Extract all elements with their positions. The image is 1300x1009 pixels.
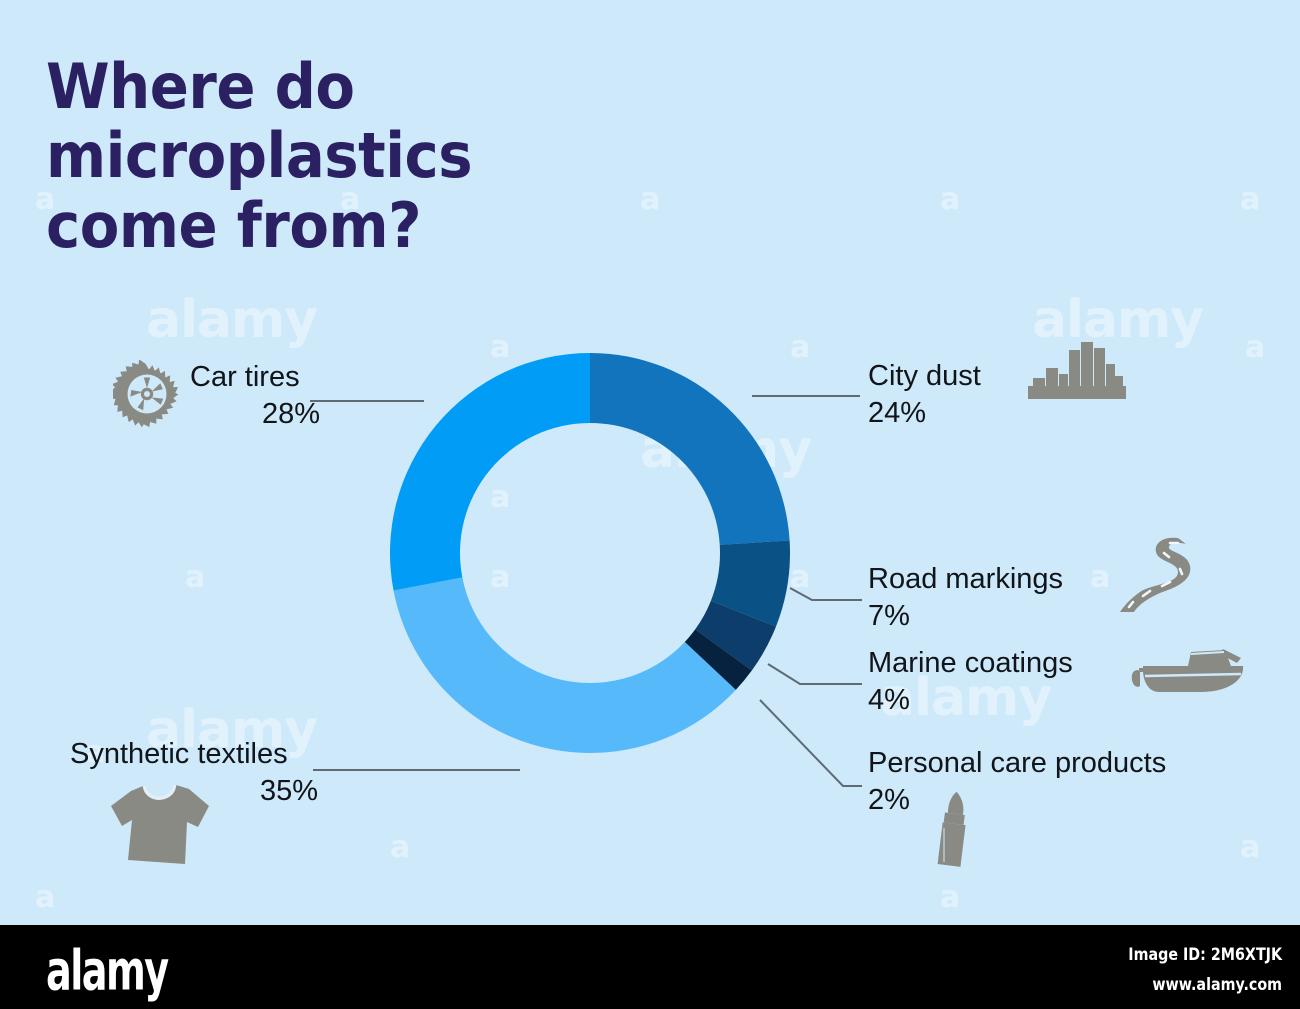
- label-road-markings: Road markings 7%: [868, 561, 1063, 635]
- label-personal-care-name: Personal care products: [868, 747, 1166, 779]
- label-marine-coatings-pct: 4%: [868, 682, 1073, 719]
- label-road-markings-pct: 7%: [868, 598, 1063, 635]
- tire-icon: [113, 360, 181, 428]
- label-car-tires-name: Car tires: [190, 359, 320, 396]
- alamy-footer-bar: alamy Image ID: 2M6XTJK www.alamy.com: [0, 925, 1300, 1009]
- image-id-text: Image ID: 2M6XTJK: [1128, 941, 1282, 971]
- label-marine-coatings: Marine coatings 4%: [868, 645, 1073, 719]
- donut-slice-city-dust[interactable]: [590, 353, 790, 545]
- motorboat-icon: [1125, 646, 1249, 704]
- donut-slice-car-tires[interactable]: [390, 353, 590, 590]
- label-car-tires-pct: 28%: [190, 396, 320, 433]
- tshirt-icon: [105, 782, 215, 867]
- city-skyline-icon: [1028, 338, 1126, 400]
- label-synthetic-textiles-name: Synthetic textiles: [70, 738, 288, 770]
- label-city-dust-name: City dust: [868, 360, 981, 392]
- donut-slice-synthetic-textiles[interactable]: [394, 577, 736, 753]
- label-city-dust-pct: 24%: [868, 395, 981, 432]
- donut-slice-group: [390, 353, 790, 753]
- donut-chart-svg: [390, 353, 790, 753]
- label-city-dust: City dust 24%: [868, 358, 981, 432]
- label-car-tires: Car tires 28%: [190, 359, 320, 433]
- winding-road-icon: [1112, 536, 1194, 614]
- alamy-logo: alamy: [46, 939, 168, 1003]
- page-title: Where do microplastics come from?: [46, 52, 771, 260]
- label-road-markings-name: Road markings: [868, 563, 1063, 595]
- label-personal-care-pct: 2%: [868, 782, 1166, 819]
- donut-chart: [390, 353, 790, 753]
- leader-line-road-markings: [790, 588, 862, 600]
- label-marine-coatings-name: Marine coatings: [868, 647, 1073, 679]
- lipstick-icon: [930, 788, 982, 870]
- footer-meta: Image ID: 2M6XTJK www.alamy.com: [1128, 941, 1282, 1001]
- label-personal-care: Personal care products 2%: [868, 745, 1166, 819]
- infographic-canvas: Where do microplastics come from?: [0, 0, 1300, 925]
- website-text: www.alamy.com: [1128, 971, 1282, 1001]
